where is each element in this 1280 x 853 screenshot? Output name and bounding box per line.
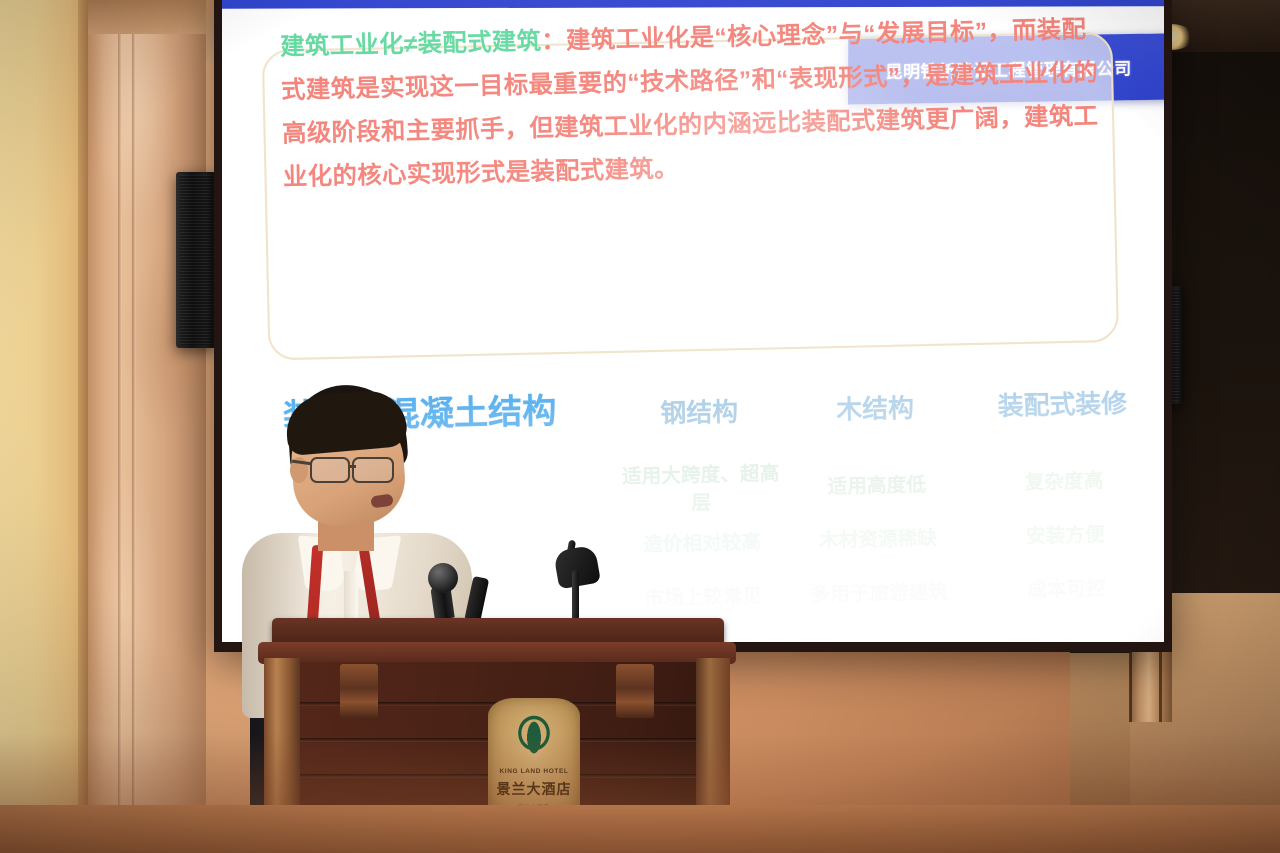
pilaster-capital [88, 0, 206, 34]
presenter-hair-front [284, 388, 409, 456]
pilaster-groove-2 [132, 0, 136, 853]
left-wall-edge [78, 0, 88, 853]
podium-lip [258, 642, 736, 664]
column-heading-prefab-decoration: 装配式装修 [963, 382, 1162, 424]
cell-r2-c3: 成本可控 [967, 571, 1164, 603]
eyeglasses-bridge [348, 465, 356, 468]
podium-capital-right [616, 664, 654, 718]
cell-r1-c1: 造价相对较高 [614, 526, 791, 558]
wall-speaker-left [176, 172, 216, 348]
left-wall-glow [0, 0, 86, 853]
handheld-microphone-head [428, 563, 458, 593]
cell-r0-c1: 适用大跨度、超高层 [612, 458, 789, 518]
cell-r0-c3: 复杂度高 [964, 464, 1163, 496]
column-heading-steel: 钢结构 [611, 391, 788, 432]
cell-r2-c2: 多用于旅游建筑 [791, 576, 968, 608]
slide-callout-text: 建筑工业化≠装配式建筑：建筑工业化是“核心理念”与“发展目标”，而装配式建筑是实… [280, 7, 1112, 199]
cell-r2-c1: 市场上较常见 [615, 579, 792, 611]
callout-line1-rest: ：建筑工业化是“核心理念”与“发展 [541, 19, 926, 54]
marble-veining [88, 0, 206, 853]
eyeglasses-lens-right [352, 457, 394, 483]
cell-r1-c2: 木材资源稀缺 [790, 522, 967, 554]
podium-top-ledge [272, 618, 724, 644]
pilaster-groove-1 [118, 0, 122, 853]
callout-highlight-text: 建筑工业化≠装配式建筑 [280, 27, 542, 60]
cell-r0-c2: 适用高度低 [789, 468, 966, 500]
column-heading-timber: 木结构 [787, 387, 964, 428]
conference-room-photo: 建设 昆明铁新建设工程管理有限公司 建筑工业化≠装配式建筑：建筑工业化是“核心理… [0, 0, 1280, 853]
marble-pilaster-left [88, 0, 206, 853]
cell-r1-c3: 安装方便 [966, 517, 1164, 549]
podium-capital-left [340, 664, 378, 718]
speaker-grille [179, 175, 213, 345]
slide-top-bar: 建设 [222, 0, 1164, 9]
eyeglasses-lens-left [310, 457, 350, 483]
floor [0, 805, 1280, 853]
